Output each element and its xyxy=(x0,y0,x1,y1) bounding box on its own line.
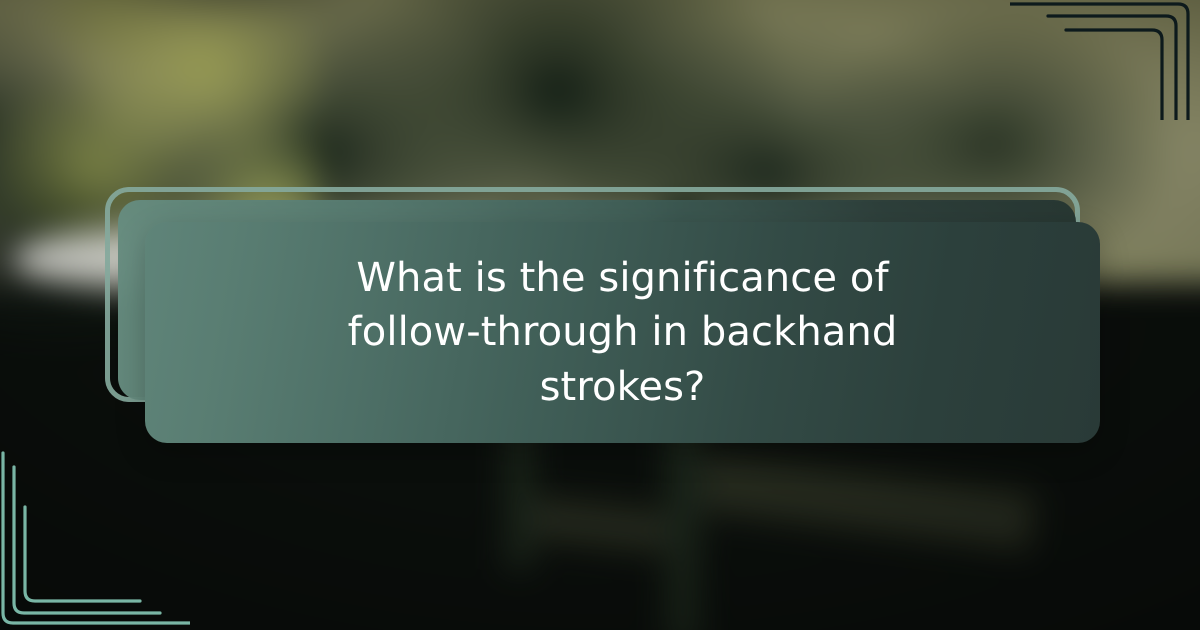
question-text: What is the significance of follow-throu… xyxy=(228,251,1018,414)
question-card: What is the significance of follow-throu… xyxy=(145,222,1100,443)
page-root: What is the significance of follow-throu… xyxy=(0,0,1200,630)
